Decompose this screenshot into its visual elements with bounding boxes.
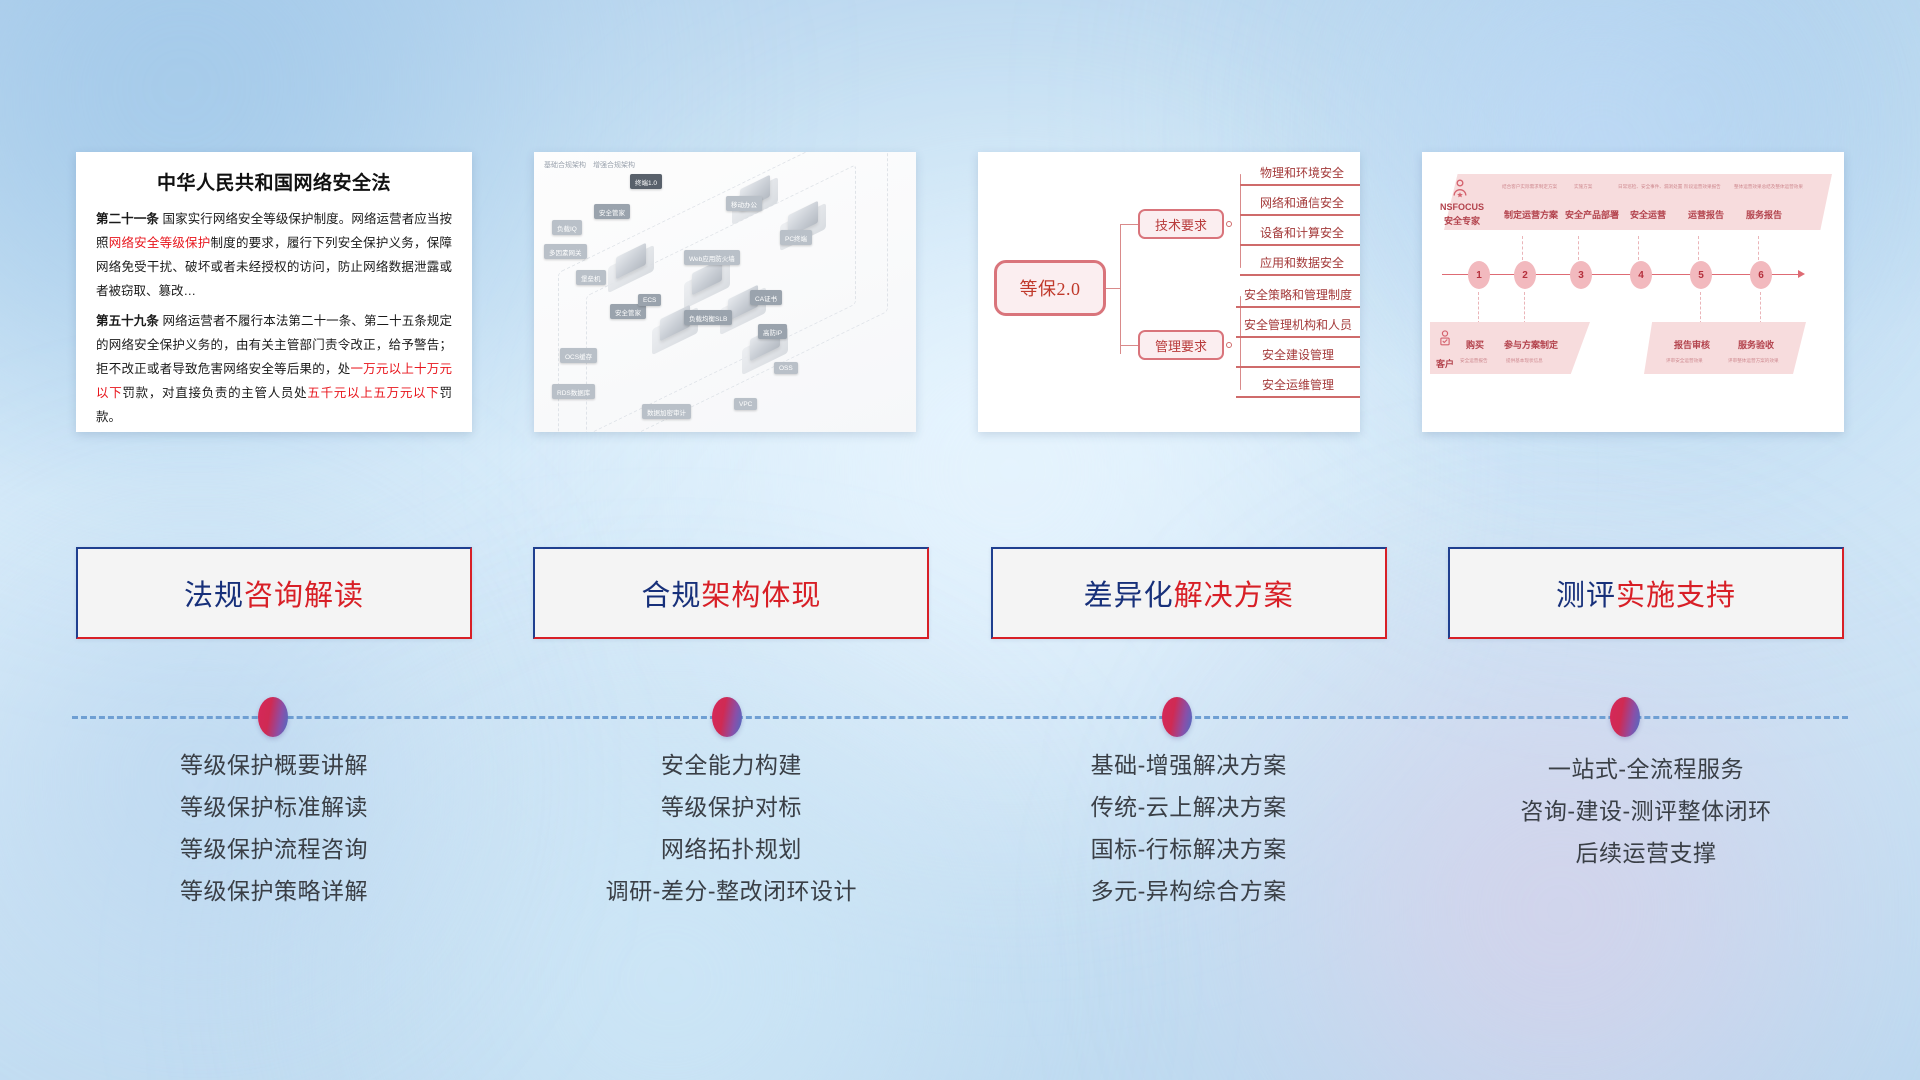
list-item: 后续运营支撑: [1448, 833, 1844, 875]
customer-step-3-sub: 评审整体运营方案的效果: [1728, 358, 1779, 364]
expert-person-icon: [1450, 178, 1470, 198]
expert-step-2-title: 安全运营: [1630, 208, 1666, 221]
expert-step-0-sub: 结合客户实际需求制定方案: [1502, 184, 1557, 190]
architecture-node-9: ECS: [638, 294, 661, 306]
customer-step-0-title: 购买: [1466, 338, 1484, 351]
header-box-2-part2: 解决方案: [1174, 572, 1294, 614]
list-item: 调研-差分-整改闭环设计: [533, 871, 929, 913]
list-item: 安全能力构建: [533, 745, 929, 787]
header-box-2[interactable]: 差异化解决方案: [991, 547, 1387, 639]
header-row: 法规咨询解读 合规架构体现 差异化解决方案 测评实施支持: [76, 547, 1844, 639]
timeline-dot-0[interactable]: [258, 697, 288, 737]
mindmap-card[interactable]: 等保2.0 技术要求 管理要求 物理和环境安全 网络和通信安全 设备和计算安全 …: [978, 152, 1360, 432]
architecture-node-10: 负载均衡SLB: [684, 310, 732, 325]
expert-step-4-sub: 整体运营效果总结及整体运营效果: [1734, 184, 1803, 190]
header-box-0-part1: 法规: [184, 572, 244, 614]
expert-step-0-title: 制定运营方案: [1504, 208, 1558, 221]
mindmap-leaf-tech-3: 应用和数据安全: [1240, 254, 1360, 276]
mindmap-branch-mgmt: 管理要求: [1138, 330, 1224, 360]
header-box-0-part2: 咨询解读: [244, 572, 364, 614]
customer-step-2-title: 报告审核: [1674, 338, 1710, 351]
mindmap-leaf-mgmt-3: 安全运维管理: [1236, 376, 1360, 398]
list-item: 一站式-全流程服务: [1448, 749, 1844, 791]
header-box-1-part1: 合规: [641, 572, 701, 614]
roadmap-step-4: 4: [1630, 261, 1652, 289]
architecture-node-16: 移动办公: [726, 196, 762, 211]
law-article-59-mid: 罚款，对直接负责的主管人员处: [122, 386, 307, 400]
mindmap-leaf-mgmt-0: 安全策略和管理制度: [1236, 286, 1360, 308]
list-item: 等级保护流程咨询: [76, 829, 472, 871]
expert-step-3-title: 运营报告: [1688, 208, 1724, 221]
mindmap-leaf-tech-1: 网络和通信安全: [1240, 194, 1360, 216]
law-card[interactable]: 中华人民共和国网络安全法 第二十一条 国家实行网络安全等级保护制度。网络运营者应…: [76, 152, 472, 432]
header-box-0[interactable]: 法规咨询解读: [76, 547, 472, 639]
mindmap-leaf-tech-2: 设备和计算安全: [1240, 224, 1360, 246]
architecture-card[interactable]: 基础合规架构 增强合规架构 终端1.0: [534, 152, 916, 432]
architecture-node-8: 数据加密审计: [642, 404, 691, 419]
law-article-21-label: 第二十一条: [96, 212, 159, 226]
roadmap-card[interactable]: NSFOCUS 安全专家 结合客户实际需求制定方案 制定运营方案 实施方案 安全…: [1422, 152, 1844, 432]
thumbnail-row: 中华人民共和国网络安全法 第二十一条 国家实行网络安全等级保护制度。网络运营者应…: [76, 152, 1844, 432]
law-article-59-label: 第五十九条: [96, 314, 159, 328]
roadmap-expert-band: [1444, 174, 1832, 230]
header-box-3[interactable]: 测评实施支持: [1448, 547, 1844, 639]
bullet-columns: 等级保护概要讲解 等级保护标准解读 等级保护流程咨询 等级保护策略详解 安全能力…: [76, 745, 1844, 912]
architecture-node-7: RDS数据库: [552, 384, 595, 399]
bullet-column-0: 等级保护概要讲解 等级保护标准解读 等级保护流程咨询 等级保护策略详解: [76, 745, 472, 912]
law-card-title: 中华人民共和国网络安全法: [96, 168, 452, 195]
expert-step-2-sub: 日常巡检、安全事件、漏洞处置: [1618, 184, 1682, 190]
timeline-dashed-line: [72, 716, 1848, 719]
expert-role-line1: NSFOCUS: [1440, 202, 1484, 212]
architecture-node-5: 安全管家: [610, 304, 646, 319]
timeline: [72, 697, 1848, 737]
mindmap-leaf-tech-0: 物理和环境安全: [1240, 164, 1360, 186]
roadmap-customer-band-right: [1644, 322, 1806, 374]
slide-stage: 中华人民共和国网络安全法 第二十一条 国家实行网络安全等级保护制度。网络运营者应…: [0, 0, 1920, 1080]
expert-role-line2: 安全专家: [1444, 214, 1480, 227]
roadmap-step-3: 3: [1570, 261, 1592, 289]
customer-step-1-title: 参与方案制定: [1504, 338, 1558, 351]
header-box-3-part2: 实施支持: [1616, 572, 1736, 614]
architecture-node-12: CA证书: [750, 290, 782, 305]
architecture-node-0: 终端1.0: [630, 174, 662, 189]
roadmap-axis: [1442, 274, 1800, 275]
architecture-tag-0: 基础合规架构: [544, 160, 586, 170]
customer-step-0-sub: 安全运营报告: [1460, 358, 1488, 364]
list-item: 等级保护标准解读: [76, 787, 472, 829]
timeline-dot-1[interactable]: [712, 697, 742, 737]
architecture-node-15: VPC: [734, 398, 757, 410]
expert-step-4-title: 服务报告: [1746, 208, 1782, 221]
header-box-3-part1: 测评: [1556, 572, 1616, 614]
architecture-node-11: Web应用防火墙: [684, 250, 740, 265]
mindmap-node-dot-mgmt: [1226, 342, 1232, 348]
bullet-column-3: 一站式-全流程服务 咨询-建设-测评整体闭环 后续运营支撑: [1448, 745, 1844, 912]
roadmap-step-1: 1: [1468, 261, 1490, 289]
mindmap-node-dot-tech: [1226, 221, 1232, 227]
customer-step-2-sub: 评审安全运营效果: [1666, 358, 1703, 364]
mindmap-branch-tech: 技术要求: [1138, 209, 1224, 239]
list-item: 传统-云上解决方案: [991, 787, 1387, 829]
roadmap-step-2: 2: [1514, 261, 1536, 289]
customer-step-1-sub: 提供基本现状信息: [1506, 358, 1543, 364]
header-box-2-part1: 差异化: [1084, 572, 1174, 614]
architecture-node-14: OSS: [774, 362, 798, 374]
law-article-21-highlight: 网络安全等级保护: [109, 236, 211, 250]
list-item: 等级保护概要讲解: [76, 745, 472, 787]
bullet-column-2: 基础-增强解决方案 传统-云上解决方案 国标-行标解决方案 多元-异构综合方案: [991, 745, 1387, 912]
list-item: 基础-增强解决方案: [991, 745, 1387, 787]
roadmap-arrow-icon: [1798, 270, 1805, 278]
mindmap-root: 等保2.0: [994, 260, 1106, 316]
architecture-node-13: 高防IP: [758, 324, 787, 339]
list-item: 等级保护对标: [533, 787, 929, 829]
architecture-node-17: PC终端: [780, 230, 812, 245]
expert-step-1-title: 安全产品部署: [1565, 208, 1619, 221]
architecture-tags: 基础合规架构 增强合规架构: [544, 160, 635, 170]
architecture-tag-1: 增强合规架构: [593, 160, 635, 170]
header-box-1[interactable]: 合规架构体现: [533, 547, 929, 639]
list-item: 多元-异构综合方案: [991, 871, 1387, 913]
law-article-21: 第二十一条 国家实行网络安全等级保护制度。网络运营者应当按照网络安全等级保护制度…: [96, 207, 452, 303]
header-box-1-part2: 架构体现: [701, 572, 821, 614]
list-item: 等级保护策略详解: [76, 871, 472, 913]
architecture-node-4: 堡垒机: [576, 270, 606, 285]
list-item: 网络拓扑规划: [533, 829, 929, 871]
expert-step-3-sub: 阶段运营效果报告: [1684, 184, 1721, 190]
mindmap-leaf-mgmt-2: 安全建设管理: [1236, 346, 1360, 368]
list-item: 国标-行标解决方案: [991, 829, 1387, 871]
law-article-59: 第五十九条 网络运营者不履行本法第二十一条、第二十五条规定的网络安全保护义务的，…: [96, 309, 452, 429]
law-article-59-highlight-2: 五千元以上五万元以下: [307, 386, 439, 400]
list-item: 咨询-建设-测评整体闭环: [1448, 791, 1844, 833]
customer-role-label: 客户: [1436, 357, 1454, 370]
customer-person-icon: [1436, 328, 1454, 348]
bullet-column-1: 安全能力构建 等级保护对标 网络拓扑规划 调研-差分-整改闭环设计: [533, 745, 929, 912]
architecture-node-6: OCS缓存: [560, 348, 597, 363]
architecture-node-1: 安全管家: [594, 204, 630, 219]
architecture-node-3: 多因素网关: [544, 244, 587, 259]
customer-step-3-title: 服务验收: [1738, 338, 1774, 351]
architecture-node-2: 负载IQ: [552, 220, 582, 235]
roadmap-step-6: 6: [1750, 261, 1772, 289]
timeline-dot-3[interactable]: [1610, 697, 1640, 737]
expert-step-1-sub: 实施方案: [1574, 184, 1592, 190]
timeline-dot-2[interactable]: [1162, 697, 1192, 737]
mindmap-leaf-mgmt-1: 安全管理机构和人员: [1236, 316, 1360, 338]
roadmap-step-5: 5: [1690, 261, 1712, 289]
